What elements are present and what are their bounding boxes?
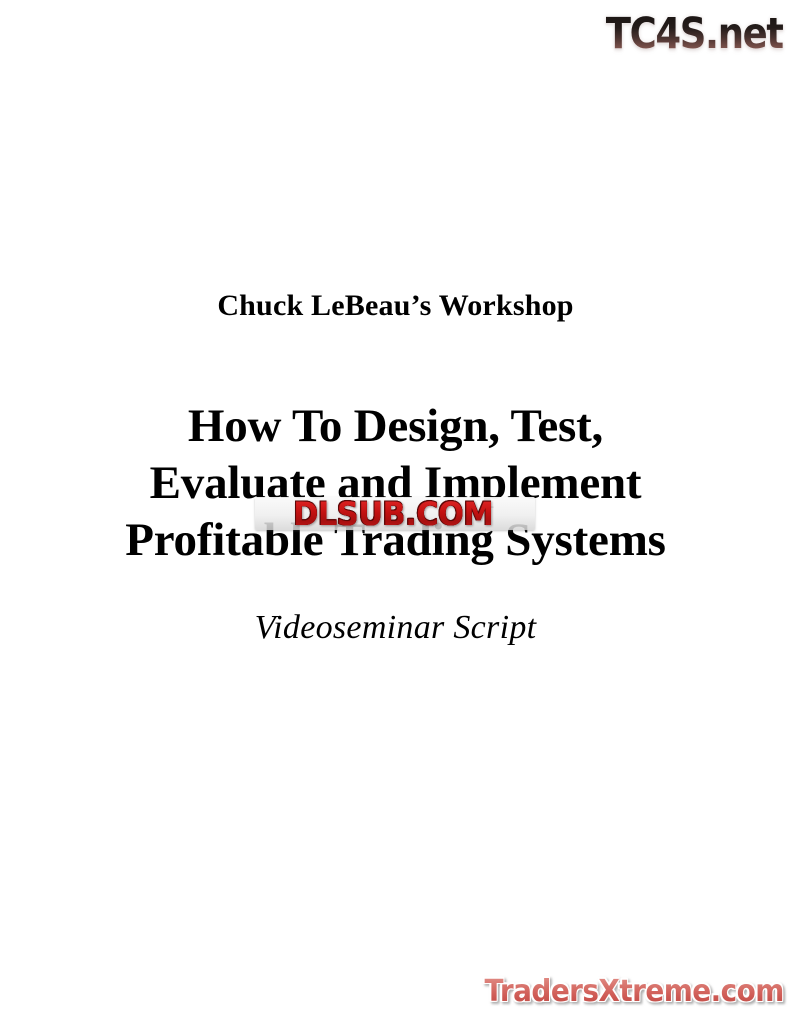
page-title-line-1: How To Design, Test, — [0, 398, 791, 455]
page-title: How To Design, Test, Evaluate and Implem… — [0, 398, 791, 569]
tradersxtreme-watermark-text: TradersXtreme.com — [485, 977, 784, 1007]
dlsub-watermark-text: DLSUB.COM — [293, 498, 493, 530]
workshop-heading: Chuck LeBeau’s Workshop — [0, 286, 791, 326]
tradersxtreme-watermark: TradersXtreme.com — [480, 968, 784, 1016]
document-page: TC4S.net Chuck LeBeau’s Workshop How To … — [0, 0, 791, 1024]
dlsub-watermark: DLSUB.COM — [250, 492, 536, 536]
tc4s-watermark-text: TC4S.net — [606, 13, 783, 56]
tc4s-watermark: TC4S.net — [587, 4, 783, 64]
page-subtitle: Videoseminar Script — [0, 606, 791, 650]
